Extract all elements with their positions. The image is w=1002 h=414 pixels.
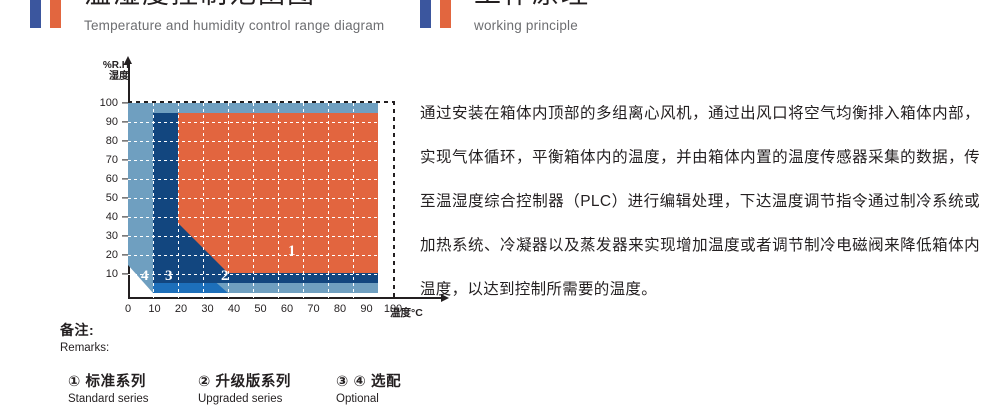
y-tick-label: 50 bbox=[78, 192, 118, 204]
y-axis-title-line2: 湿度 bbox=[109, 71, 129, 82]
x-tick-label: 60 bbox=[281, 303, 293, 315]
gridline-horizontal bbox=[128, 160, 378, 161]
header-accent-bars bbox=[30, 0, 61, 28]
gridline-horizontal bbox=[128, 217, 378, 218]
legend-item-label-en: Standard series bbox=[68, 393, 149, 405]
y-tick-label: 60 bbox=[78, 173, 118, 185]
x-axis-title: 温度°C bbox=[390, 305, 423, 320]
section-title-cn: 温湿度控制范围图 bbox=[84, 0, 316, 10]
gridline-vertical bbox=[203, 103, 204, 303]
y-tick-label: 80 bbox=[78, 135, 118, 147]
y-tick-label: 30 bbox=[78, 230, 118, 242]
y-tick-label: 70 bbox=[78, 154, 118, 166]
x-tick-label: 90 bbox=[360, 303, 372, 315]
gridline-vertical bbox=[303, 103, 304, 303]
x-tick-label: 70 bbox=[307, 303, 319, 315]
legend-item-label-cn: ③ ④ 选配 bbox=[336, 370, 401, 391]
x-tick-label: 80 bbox=[334, 303, 346, 315]
temperature-humidity-chart: %R.H 湿度 100 90 80 70 60 50 40 30 20 10 bbox=[60, 55, 420, 310]
zone-label-4: 4 bbox=[141, 269, 149, 284]
y-tick-label: 100 bbox=[78, 97, 118, 109]
gridline-vertical bbox=[178, 103, 179, 303]
gridline-vertical bbox=[253, 103, 254, 303]
zone-label-2: 2 bbox=[221, 269, 229, 284]
plot-area: 1 2 3 4 bbox=[128, 103, 378, 303]
legend-item-label-en: Optional bbox=[336, 393, 401, 405]
x-tick-label: 20 bbox=[175, 303, 187, 315]
x-tick-label: 30 bbox=[201, 303, 213, 315]
legend-item-text-cn: 选配 bbox=[371, 374, 401, 390]
x-tick-label: 40 bbox=[228, 303, 240, 315]
remarks-title-en: Remarks: bbox=[60, 342, 460, 354]
accent-bar-orange-icon bbox=[50, 0, 61, 28]
zone-label-3: 3 bbox=[165, 269, 173, 284]
zone-label-1: 1 bbox=[288, 244, 296, 259]
y-tick-label: 90 bbox=[78, 116, 118, 128]
y-tick-label: 40 bbox=[78, 211, 118, 223]
legend-item-text-cn: 升级版系列 bbox=[216, 374, 292, 390]
x-tick-label: 50 bbox=[254, 303, 266, 315]
legend-marker-34-icon: ③ ④ bbox=[336, 374, 366, 390]
remarks-title-cn: 备注: bbox=[60, 320, 460, 340]
page-root: 温湿度控制范围图 Temperature and humidity contro… bbox=[0, 0, 1002, 414]
gridline-vertical bbox=[353, 103, 354, 303]
section-title-en: Temperature and humidity control range d… bbox=[84, 18, 384, 33]
gridline-horizontal bbox=[128, 198, 378, 199]
gridline-horizontal bbox=[128, 179, 378, 180]
working-principle-paragraph: 通过安装在箱体内顶部的多组离心风机，通过出风口将空气均衡排入箱体内部，实现气体循… bbox=[420, 92, 980, 312]
legend-item-label-en: Upgraded series bbox=[198, 393, 291, 405]
accent-bar-blue-icon bbox=[30, 0, 41, 28]
gridline-vertical bbox=[328, 103, 329, 303]
legend-marker-1-icon: ① bbox=[68, 374, 81, 390]
accent-bar-orange-icon bbox=[440, 0, 451, 28]
header-accent-bars bbox=[420, 0, 451, 28]
legend-marker-2-icon: ② bbox=[198, 374, 211, 390]
gridline-horizontal bbox=[128, 236, 378, 237]
gridline-horizontal bbox=[128, 141, 378, 142]
gridline-horizontal bbox=[128, 255, 378, 256]
boundary-dashed-top bbox=[128, 101, 395, 103]
y-axis-arrow-icon bbox=[124, 56, 132, 64]
y-tick-label: 20 bbox=[78, 249, 118, 261]
gridline-horizontal bbox=[128, 122, 378, 123]
gridline-vertical bbox=[153, 103, 154, 303]
accent-bar-blue-icon bbox=[420, 0, 431, 28]
boundary-dashed-right bbox=[393, 101, 395, 297]
section-title-cn: 工作原理 bbox=[474, 0, 590, 10]
legend-item-label-cn: ② 升级版系列 bbox=[198, 370, 291, 391]
section-title-en: working principle bbox=[474, 18, 578, 33]
legend-item-standard: ① 标准系列 Standard series bbox=[68, 370, 149, 405]
x-tick-label: 0 bbox=[125, 303, 131, 315]
remarks-block: 备注: Remarks: ① 标准系列 Standard series ② 升级… bbox=[60, 320, 460, 354]
legend-item-upgraded: ② 升级版系列 Upgraded series bbox=[198, 370, 291, 405]
legend-item-optional: ③ ④ 选配 Optional bbox=[336, 370, 401, 405]
legend-item-text-cn: 标准系列 bbox=[86, 374, 146, 390]
x-tick-label: 10 bbox=[148, 303, 160, 315]
y-tick-label: 10 bbox=[78, 268, 118, 280]
y-axis-title: %R.H 湿度 bbox=[73, 61, 129, 82]
legend-item-label-cn: ① 标准系列 bbox=[68, 370, 149, 391]
gridline-vertical bbox=[278, 103, 279, 303]
